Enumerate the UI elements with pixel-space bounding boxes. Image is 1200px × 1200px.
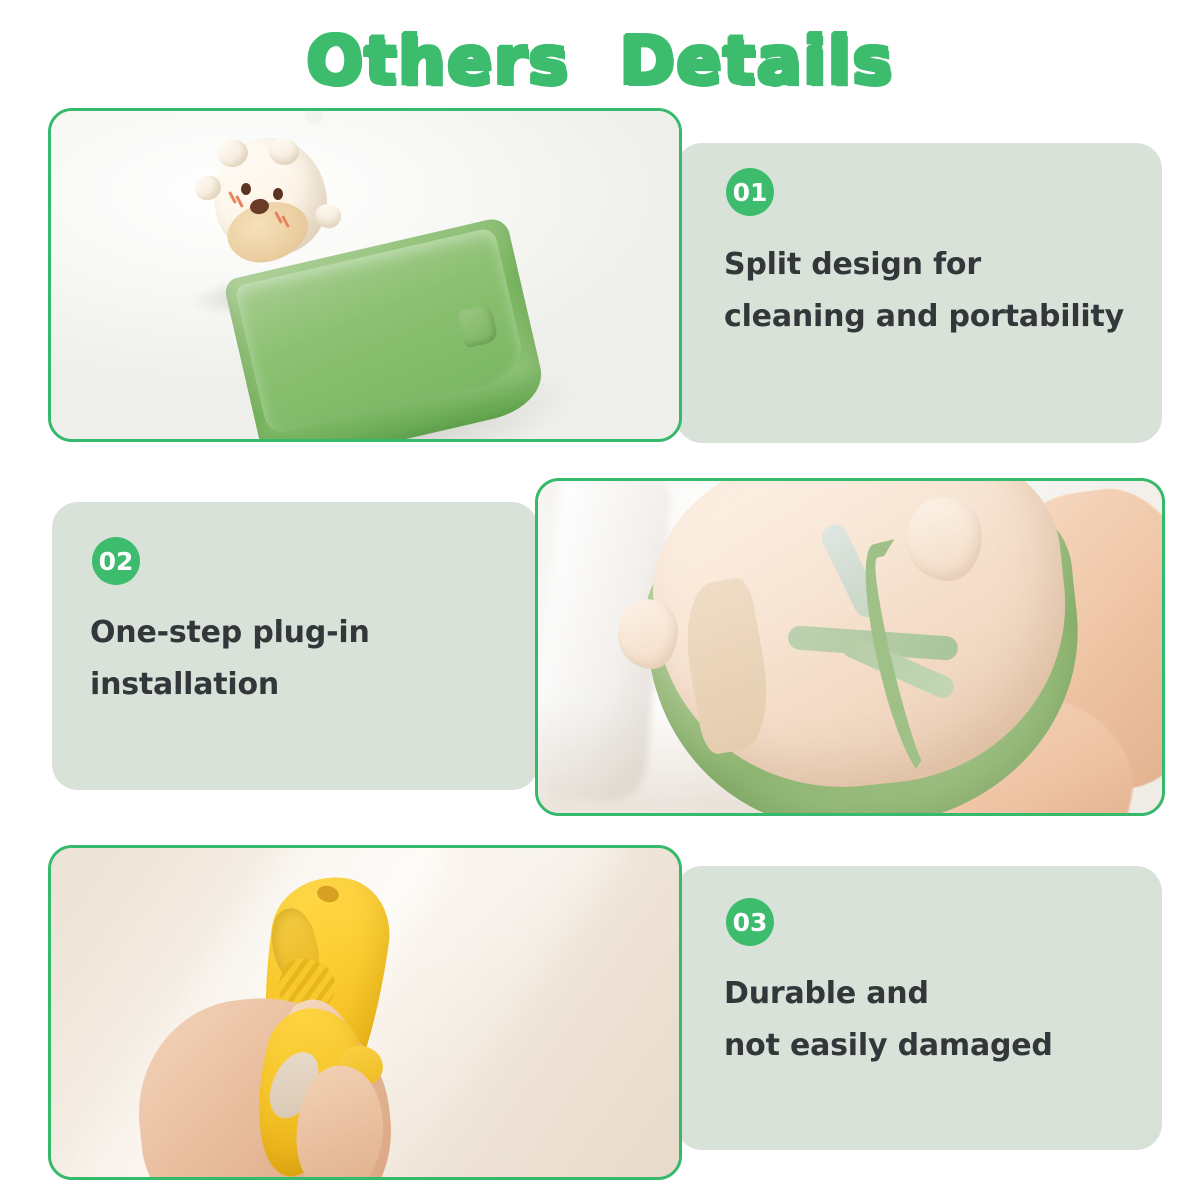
feature-badge-03: 03 xyxy=(726,898,774,946)
feature-text-01: Split design for cleaning and portabilit… xyxy=(724,239,1144,342)
feature-panel-02: 02 One-step plug-in installation xyxy=(52,502,538,790)
feature-text-03: Durable and not easily damaged xyxy=(724,968,1154,1071)
bear-eye-left xyxy=(241,183,251,195)
feature-badge-01: 01 xyxy=(726,168,774,216)
flower-tab-left xyxy=(618,599,678,669)
bear-eye-right xyxy=(273,188,283,200)
flower-tab-right xyxy=(906,497,982,581)
feature-image-02[interactable] xyxy=(535,478,1165,816)
feature-panel-01: 01 Split design for cleaning and portabi… xyxy=(676,143,1162,443)
feature-image-03[interactable] xyxy=(48,845,682,1180)
photo-scene-split-design xyxy=(51,111,679,439)
feature-panel-03: 03 Durable and not easily damaged xyxy=(676,866,1162,1150)
feature-image-01[interactable] xyxy=(48,108,682,442)
photo-scene-durable xyxy=(51,848,679,1177)
feature-badge-02: 02 xyxy=(92,537,140,585)
feature-text-02: One-step plug-in installation xyxy=(90,607,520,710)
page-title: Others Details xyxy=(0,22,1200,99)
photo-scene-plug-in xyxy=(538,481,1162,813)
